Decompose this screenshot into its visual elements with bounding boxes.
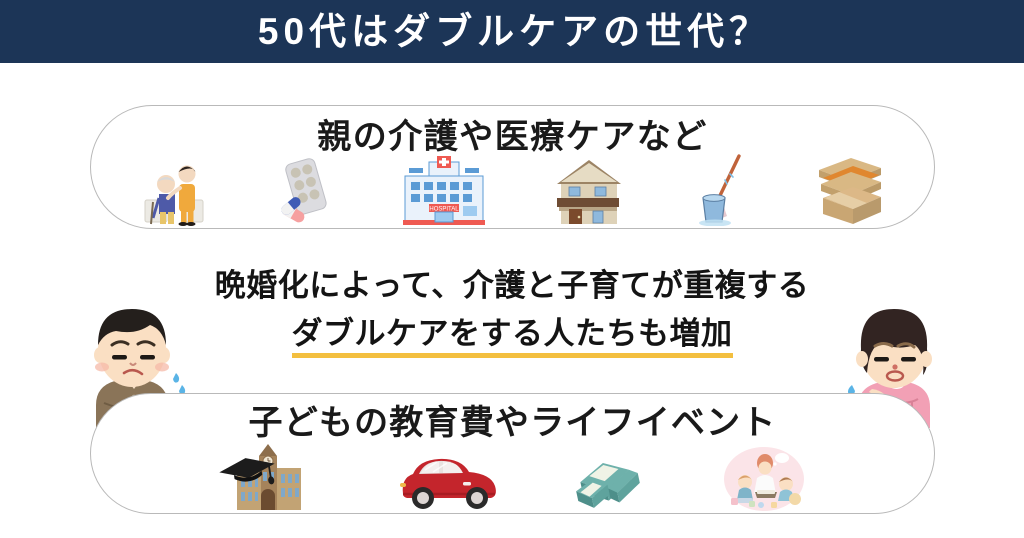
card-child-education-icon-row (91, 442, 934, 512)
page-title: 50代はダブルケアの世代？ (253, 13, 771, 50)
middle-statement-text: 晩婚化によって、介護と子育てが重複する ダブルケアをする人たちも増加 (215, 267, 809, 359)
childcare-icon (719, 446, 809, 512)
money-bundle-icon (573, 448, 647, 512)
card-child-education: 子どもの教育費やライフイベント (90, 393, 935, 514)
middle-line-1: 晩婚化によって、介護と子育てが重複する (215, 267, 809, 305)
card-parent-care-icon-row: HOSPITAL (91, 154, 934, 226)
middle-statement-band: 晩婚化によって、介護と子育てが重複する ダブルケアをする人たちも増加 (0, 235, 1024, 390)
red-car-icon (397, 450, 501, 512)
header-banner: 50代はダブルケアの世代？ (0, 0, 1024, 63)
medicine-pills-icon (279, 154, 337, 226)
middle-line-2-highlighted: ダブルケアをする人たちも増加 (292, 315, 733, 359)
card-child-education-heading: 子どもの教育費やライフイベント (91, 406, 934, 440)
card-parent-care: 親の介護や医療ケアなど (90, 105, 935, 229)
graduation-cap-university-icon (217, 442, 325, 512)
house-icon (551, 154, 631, 226)
hospital-building-icon: HOSPITAL (401, 154, 487, 226)
content-stage: 親の介護や医療ケアなど (0, 63, 1024, 538)
cardboard-boxes-icon (809, 154, 887, 226)
mop-bucket-icon (695, 154, 745, 226)
caregiver-elderly-icon (139, 154, 215, 226)
card-parent-care-heading: 親の介護や医療ケアなど (91, 120, 934, 154)
